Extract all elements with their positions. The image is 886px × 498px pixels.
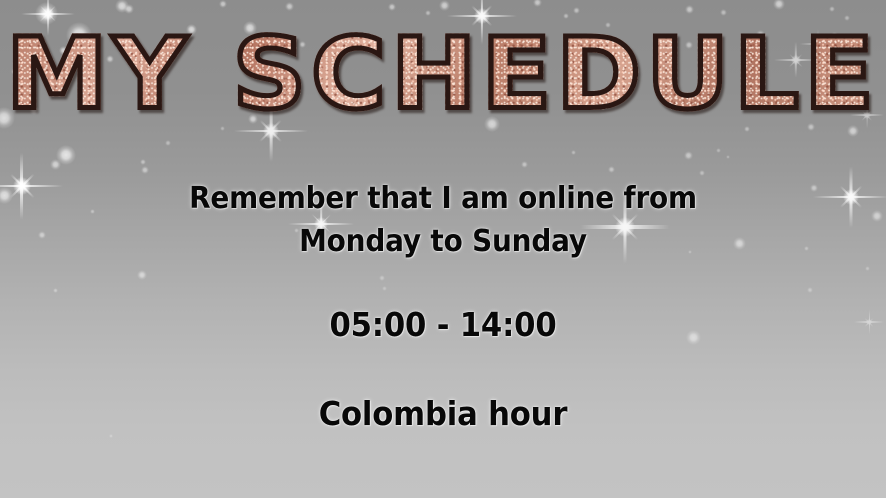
- bokeh-dot: [829, 6, 835, 12]
- bokeh-dot: [388, 3, 396, 11]
- availability-message-line-1: Remember that I am online from: [31, 178, 855, 221]
- bokeh-dot: [382, 286, 387, 291]
- bokeh-dot: [50, 159, 61, 170]
- bokeh-dot: [716, 148, 721, 153]
- schedule-banner: MY SCHEDULE Remember that I am online fr…: [0, 0, 886, 498]
- bokeh-dot: [573, 7, 580, 14]
- bokeh-dot: [533, 0, 542, 7]
- bokeh-dot: [608, 166, 615, 173]
- bokeh-dot: [165, 140, 171, 146]
- availability-message: Remember that I am online from Monday to…: [31, 178, 855, 263]
- bokeh-dot: [53, 288, 58, 293]
- bokeh-dot: [219, 0, 227, 8]
- bokeh-dot: [439, 0, 450, 11]
- bokeh-dot: [684, 151, 693, 160]
- bokeh-dot: [124, 4, 134, 14]
- bokeh-dot: [56, 145, 76, 165]
- bokeh-dot: [379, 275, 385, 281]
- bokeh-dot: [521, 161, 528, 168]
- bokeh-dot: [109, 434, 113, 438]
- availability-message-line-2: Monday to Sunday: [31, 221, 855, 264]
- bokeh-dot: [699, 170, 705, 176]
- bokeh-dot: [773, 0, 785, 10]
- banner-title-container: MY SCHEDULE: [0, 26, 886, 122]
- bokeh-dot: [871, 210, 883, 222]
- bokeh-dot: [0, 187, 13, 204]
- bokeh-dot: [726, 155, 730, 159]
- schedule-timezone: Colombia hour: [31, 394, 855, 434]
- bokeh-dot: [807, 287, 813, 293]
- bokeh-dot: [425, 10, 431, 16]
- bokeh-dot: [115, 0, 129, 13]
- bokeh-dot: [141, 166, 149, 174]
- bokeh-dot: [285, 2, 294, 11]
- bokeh-dot: [137, 270, 147, 280]
- banner-title: MY SCHEDULE: [7, 25, 880, 123]
- bokeh-dot: [685, 5, 694, 14]
- schedule-hours: 05:00 - 14:00: [31, 305, 855, 345]
- bokeh-dot: [571, 150, 576, 155]
- bokeh-dot: [720, 9, 727, 16]
- sparkle-star-icon: [854, 307, 884, 337]
- bokeh-dot: [865, 266, 870, 271]
- bokeh-dot: [140, 159, 146, 165]
